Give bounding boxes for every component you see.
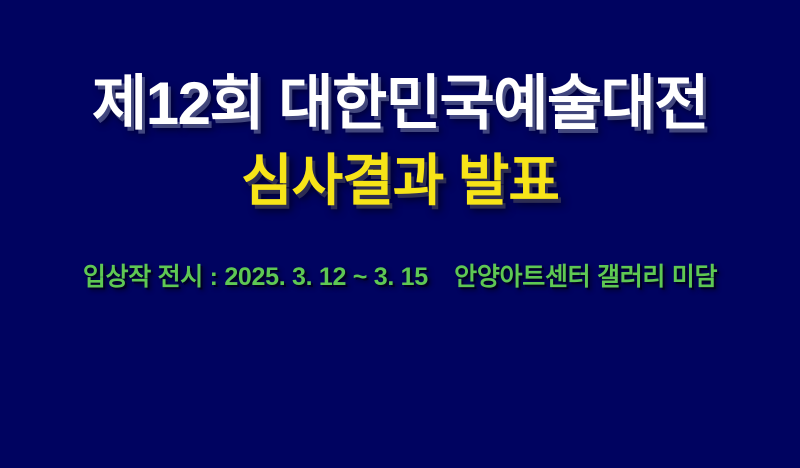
title-block: 제12회 대한민국예술대전 심사결과 발표 — [0, 0, 800, 211]
announcement-banner: 제12회 대한민국예술대전 심사결과 발표 입상작 전시 : 2025. 3. … — [0, 0, 800, 468]
headline-primary: 제12회 대한민국예술대전 — [0, 72, 800, 137]
exhibition-detail-line: 입상작 전시 : 2025. 3. 12 ~ 3. 15 안양아트센터 갤러리 … — [0, 262, 800, 292]
exhibition-venue: 안양아트센터 갤러리 미담 — [454, 263, 717, 291]
headline-secondary: 심사결과 발표 — [0, 137, 800, 211]
lower-empty-area — [0, 310, 800, 468]
exhibition-detail-label: 입상작 전시 : — [83, 263, 218, 291]
exhibition-date-range: 2025. 3. 12 ~ 3. 15 — [224, 263, 428, 291]
